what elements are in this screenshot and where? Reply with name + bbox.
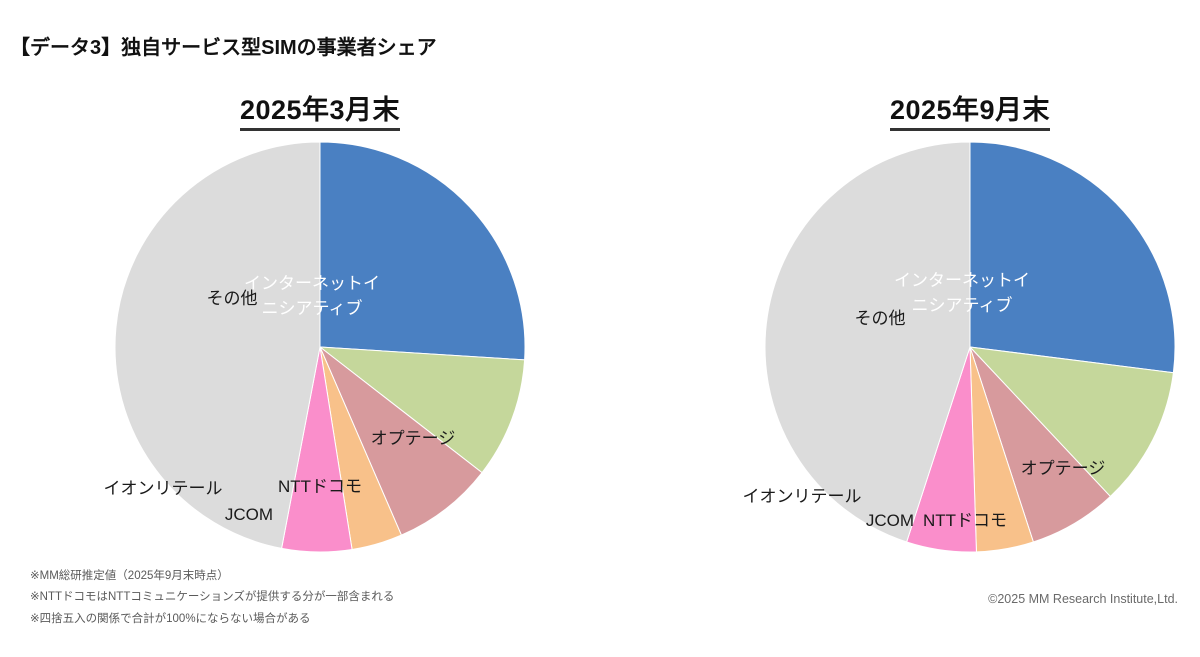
copyright-notice: ©2025 MM Research Institute,Ltd. [988, 592, 1178, 606]
pie-chart-right-svg [760, 137, 1180, 557]
pie-slice [970, 142, 1175, 373]
page-title: 【データ3】独自サービス型SIMの事業者シェア [10, 31, 437, 60]
footnote-2: ※NTTドコモはNTTコミュニケーションズが提供する分が一部含まれる [30, 587, 394, 608]
chart-title-left-text: 2025年3月末 [240, 95, 400, 131]
pie-chart-left: インターネットイ ニシアティブ オプテージ NTTドコモ JCOM イオンリテー… [110, 137, 530, 557]
chart-panel-right: 2025年9月末 インターネットイ ニシアティブ オプテージ NTTドコモ JC… [690, 80, 1200, 580]
footnote-3: ※四捨五入の関係で合計が100%にならない場合がある [30, 609, 394, 630]
pie-slice [115, 142, 320, 548]
chart-title-right: 2025年9月末 [690, 88, 1200, 127]
footnotes: ※MM総研推定値（2025年9月末時点） ※NTTドコモはNTTコミュニケーショ… [30, 566, 394, 630]
footnote-1: ※MM総研推定値（2025年9月末時点） [30, 566, 394, 587]
pie-slice [320, 142, 525, 360]
pie-chart-left-svg [110, 137, 530, 557]
pie-chart-right: インターネットイ ニシアティブ オプテージ NTTドコモ JCOM イオンリテー… [760, 137, 1180, 557]
chart-panel-left: 2025年3月末 インターネットイ ニシアティブ オプテージ NTTドコモ JC… [40, 80, 600, 580]
chart-title-right-text: 2025年9月末 [890, 95, 1050, 131]
chart-title-left: 2025年3月末 [40, 88, 600, 127]
